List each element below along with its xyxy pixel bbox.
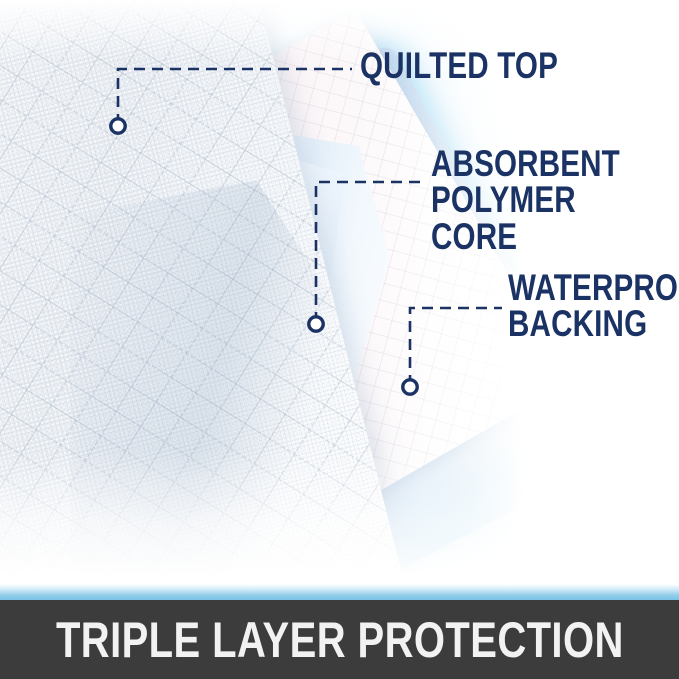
callout-line-waterproof-backing <box>410 308 502 386</box>
callout-marker-absorbent-polymer-core <box>309 317 323 331</box>
callout-marker-quilted-top <box>111 119 125 133</box>
product-photo: QUILTED TOP ABSORBENT POLYMER CORE WATER… <box>0 0 679 600</box>
callout-marker-waterproof-backing <box>403 380 417 394</box>
callout-line-absorbent-polymer-core <box>316 182 424 323</box>
infographic-canvas: QUILTED TOP ABSORBENT POLYMER CORE WATER… <box>0 0 679 679</box>
callout-label-waterproof-backing: WATERPROOF BACKING <box>508 270 679 343</box>
callout-label-absorbent-polymer-core: ABSORBENT POLYMER CORE <box>431 146 629 255</box>
callout-label-quilted-top: QUILTED TOP <box>360 48 558 84</box>
banner-title: TRIPLE LAYER PROTECTION <box>56 611 624 669</box>
bottom-banner: TRIPLE LAYER PROTECTION <box>0 600 679 679</box>
callout-line-quilted-top <box>118 69 352 125</box>
